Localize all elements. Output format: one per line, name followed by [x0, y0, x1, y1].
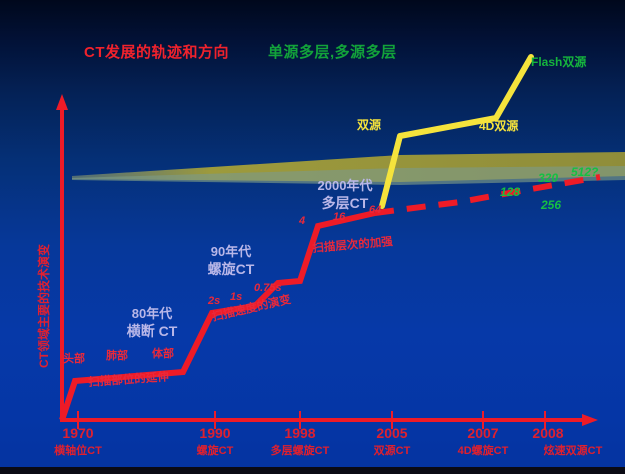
slice-count-label-64: 64	[369, 205, 381, 217]
future-slice-label-512: 512?	[571, 166, 598, 179]
axis-sub-1970: 横轴位CT	[33, 446, 123, 458]
axis-year-1990: 1990	[175, 426, 255, 441]
page-title-red: CT发展的轨迹和方向	[84, 45, 229, 61]
era-label-1980s-line2: 横断 CT	[104, 324, 200, 339]
body-part-label-head: 头部	[63, 354, 85, 366]
bottom-edge-strip	[0, 467, 625, 474]
axis-sub-2005: 双源CT	[352, 446, 432, 458]
axis-sub-2007: 4D螺旋CT	[436, 446, 530, 458]
page-title-green: 单源多层,多源多层	[268, 45, 397, 61]
future-slice-label-320: 320	[538, 172, 558, 185]
axis-sub-2008: 炫速双源CT	[521, 446, 625, 458]
era-label-1990s-line1: 90年代	[186, 245, 276, 259]
scan-speed-label-075s: 0.75s	[254, 283, 282, 295]
slice-count-label-4: 4	[299, 216, 305, 228]
era-label-1980s-line1: 80年代	[104, 307, 200, 321]
dual-source-label: 双源	[357, 119, 381, 132]
slide-canvas: CT发展的轨迹和方向 单源多层,多源多层 CT领域主要的技术演变 80年代 横断…	[0, 0, 625, 474]
body-part-label-body: 体部	[152, 349, 174, 361]
body-part-label-lung: 肺部	[106, 351, 128, 363]
yellow-curve-layer	[0, 0, 625, 474]
dual-source-flash-label: Flash双源	[531, 56, 586, 69]
dual-source-4d-label: 4D双源	[479, 120, 518, 133]
future-slice-label-128: 128	[500, 186, 520, 199]
future-slice-label-256: 256	[541, 199, 561, 212]
axis-sub-1998: 多层螺旋CT	[250, 446, 350, 458]
era-label-1990s-line2: 螺旋CT	[186, 262, 276, 277]
slice-count-label-16: 16	[333, 212, 345, 224]
scan-speed-label-1s: 1s	[230, 292, 242, 304]
y-axis-label: CT领域主要的技术演变	[38, 244, 51, 368]
axis-year-1970: 1970	[38, 426, 118, 441]
scan-speed-label-2s: 2s	[208, 296, 220, 308]
era-label-2000s-line2: 多层CT	[293, 196, 397, 211]
axis-year-2008: 2008	[508, 426, 588, 441]
axis-year-1998: 1998	[260, 426, 340, 441]
era-label-2000s-line1: 2000年代	[293, 179, 397, 193]
axis-sub-1990: 螺旋CT	[175, 446, 255, 458]
axis-year-2005: 2005	[352, 426, 432, 441]
